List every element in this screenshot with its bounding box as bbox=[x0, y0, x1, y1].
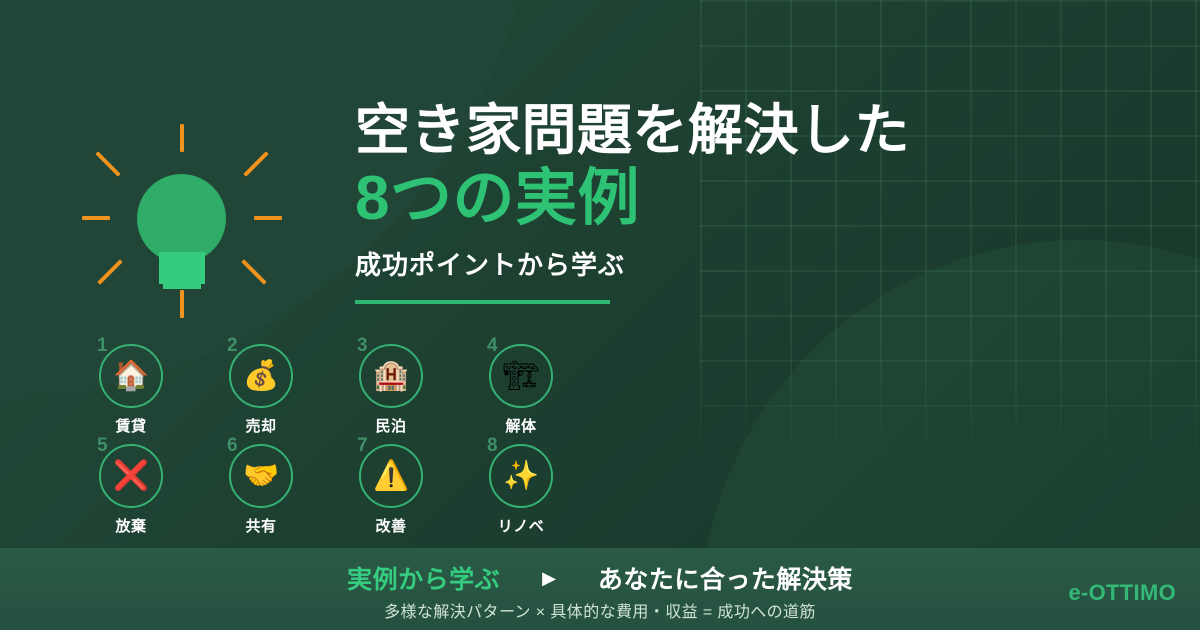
promo-banner: 空き家問題を解決した 8つの実例 成功ポイントから学ぶ 1 🏠 賃貸 2 💰 売… bbox=[0, 0, 1200, 630]
item-number: 3 bbox=[357, 336, 368, 355]
footer-bar: 実例から学ぶ ▶ あなたに合った解決策 多様な解決パターン × 具体的な費用・収… bbox=[0, 548, 1200, 630]
item-label: 改善 bbox=[375, 515, 406, 536]
item-number: 1 bbox=[97, 336, 108, 355]
hotel-icon[interactable]: 3 🏨 bbox=[359, 344, 423, 408]
warning-icon-glyph: ⚠️ bbox=[373, 462, 409, 491]
item-label: 賃貸 bbox=[115, 415, 146, 436]
play-triangle-icon: ▶ bbox=[542, 569, 556, 587]
bulb-base bbox=[159, 252, 205, 284]
solution-item-4[interactable]: 4 🏗 解体 bbox=[456, 344, 586, 444]
sparkles-icon[interactable]: 8 ✨ bbox=[489, 444, 553, 508]
house-icon-glyph: 🏠 bbox=[113, 362, 149, 391]
ray-bottom bbox=[180, 290, 184, 318]
ray-right bbox=[254, 216, 282, 220]
house-icon[interactable]: 1 🏠 bbox=[99, 344, 163, 408]
item-number: 8 bbox=[487, 436, 498, 455]
handshake-icon[interactable]: 6 🤝 bbox=[229, 444, 293, 508]
solution-item-6[interactable]: 6 🤝 共有 bbox=[196, 444, 326, 544]
solution-item-2[interactable]: 2 💰 売却 bbox=[196, 344, 326, 444]
brand-logo[interactable]: e-OTTIMO bbox=[1068, 580, 1176, 606]
item-number: 4 bbox=[487, 336, 498, 355]
item-label: 解体 bbox=[505, 415, 536, 436]
footer-subtext: 多様な解決パターン × 具体的な費用・収益 = 成功への道筋 bbox=[0, 598, 1200, 622]
headline-block: 空き家問題を解決した 8つの実例 成功ポイントから学ぶ bbox=[355, 100, 1055, 304]
footer-headline-row: 実例から学ぶ ▶ あなたに合った解決策 bbox=[0, 560, 1200, 596]
bulb-globe bbox=[137, 174, 226, 263]
bulb-base-foot bbox=[163, 282, 201, 289]
solution-item-3[interactable]: 3 🏨 民泊 bbox=[326, 344, 456, 444]
solution-item-8[interactable]: 8 ✨ リノベ bbox=[456, 444, 586, 544]
cross-mark-icon-glyph: ❌ bbox=[113, 462, 149, 491]
money-bag-icon-glyph: 💰 bbox=[243, 362, 279, 391]
item-number: 2 bbox=[227, 336, 238, 355]
title-line-1: 空き家問題を解決した bbox=[355, 100, 1055, 162]
solution-icon-grid: 1 🏠 賃貸 2 💰 売却 3 🏨 民泊 4 🏗 解体 bbox=[66, 344, 566, 544]
accent-underline bbox=[355, 300, 610, 304]
item-label: 放棄 bbox=[115, 515, 146, 536]
item-number: 6 bbox=[227, 436, 238, 455]
item-number: 5 bbox=[97, 436, 108, 455]
item-label: 共有 bbox=[245, 515, 276, 536]
crane-icon[interactable]: 4 🏗 bbox=[489, 344, 553, 408]
ray-top bbox=[180, 124, 184, 152]
ray-bottom-right bbox=[241, 259, 266, 284]
warning-icon[interactable]: 7 ⚠️ bbox=[359, 444, 423, 508]
item-number: 7 bbox=[357, 436, 368, 455]
ray-bottom-left bbox=[97, 259, 122, 284]
item-label: 売却 bbox=[245, 415, 276, 436]
ray-top-right bbox=[243, 151, 268, 176]
crane-icon-glyph: 🏗 bbox=[503, 362, 540, 391]
solution-item-7[interactable]: 7 ⚠️ 改善 bbox=[326, 444, 456, 544]
solution-item-1[interactable]: 1 🏠 賃貸 bbox=[66, 344, 196, 444]
item-label: 民泊 bbox=[375, 415, 406, 436]
ray-left bbox=[82, 216, 110, 220]
solution-item-5[interactable]: 5 ❌ 放棄 bbox=[66, 444, 196, 544]
lightbulb-icon bbox=[78, 122, 296, 318]
item-label: リノベ bbox=[498, 515, 545, 536]
footer-right-text: あなたに合った解決策 bbox=[598, 560, 853, 596]
ray-top-left bbox=[95, 151, 120, 176]
money-bag-icon[interactable]: 2 💰 bbox=[229, 344, 293, 408]
handshake-icon-glyph: 🤝 bbox=[243, 462, 279, 491]
page-subtitle: 成功ポイントから学ぶ bbox=[355, 245, 1055, 282]
cross-mark-icon[interactable]: 5 ❌ bbox=[99, 444, 163, 508]
hotel-icon-glyph: 🏨 bbox=[373, 362, 409, 391]
footer-left-text: 実例から学ぶ bbox=[347, 560, 500, 596]
title-line-2: 8つの実例 bbox=[355, 164, 1055, 233]
sparkles-icon-glyph: ✨ bbox=[503, 462, 539, 491]
